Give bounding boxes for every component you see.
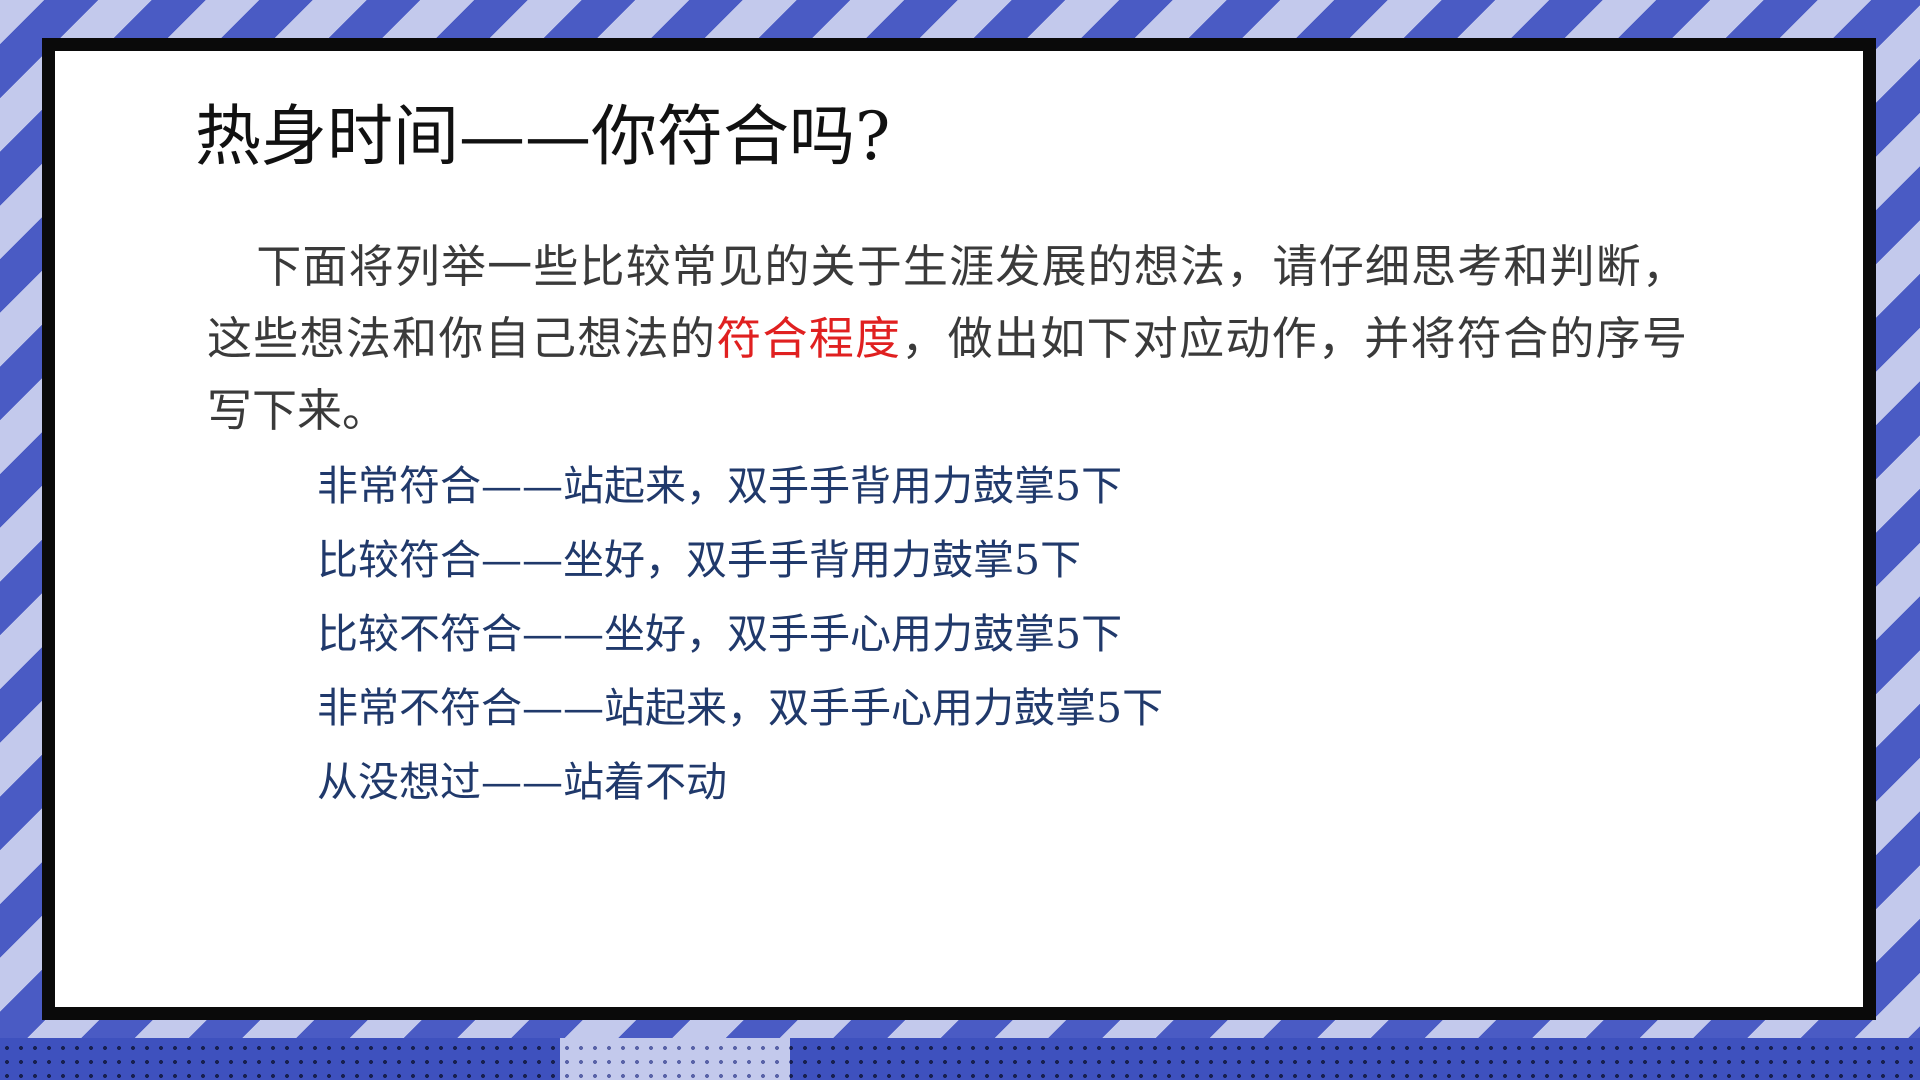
dotted-band-bottom	[0, 1038, 1920, 1080]
slide-root: 热身时间——你符合吗? 下面将列举一些比较常见的关于生涯发展的想法，请仔细思考和…	[0, 0, 1920, 1080]
list-item: 比较不符合——坐好，双手手心用力鼓掌5下	[317, 597, 1637, 671]
list-item: 非常不符合——站起来，双手手心用力鼓掌5下	[317, 671, 1637, 745]
list-item: 比较符合——坐好，双手手背用力鼓掌5下	[317, 523, 1637, 597]
content-card: 热身时间——你符合吗? 下面将列举一些比较常见的关于生涯发展的想法，请仔细思考和…	[55, 51, 1863, 1007]
content-card-frame: 热身时间——你符合吗? 下面将列举一些比较常见的关于生涯发展的想法，请仔细思考和…	[42, 38, 1876, 1020]
list-item: 非常符合——站起来，双手手背用力鼓掌5下	[317, 449, 1637, 523]
page-title: 热身时间——你符合吗?	[195, 99, 890, 175]
body-text-highlight: 符合程度	[716, 312, 901, 365]
list-item: 从没想过——站着不动	[317, 745, 1637, 819]
dotted-band-bottom-light-segment	[560, 1038, 790, 1080]
body-paragraph: 下面将列举一些比较常见的关于生涯发展的想法，请仔细思考和判断，这些想法和你自己想…	[207, 231, 1687, 447]
options-list: 非常符合——站起来，双手手背用力鼓掌5下 比较符合——坐好，双手手背用力鼓掌5下…	[317, 449, 1637, 819]
